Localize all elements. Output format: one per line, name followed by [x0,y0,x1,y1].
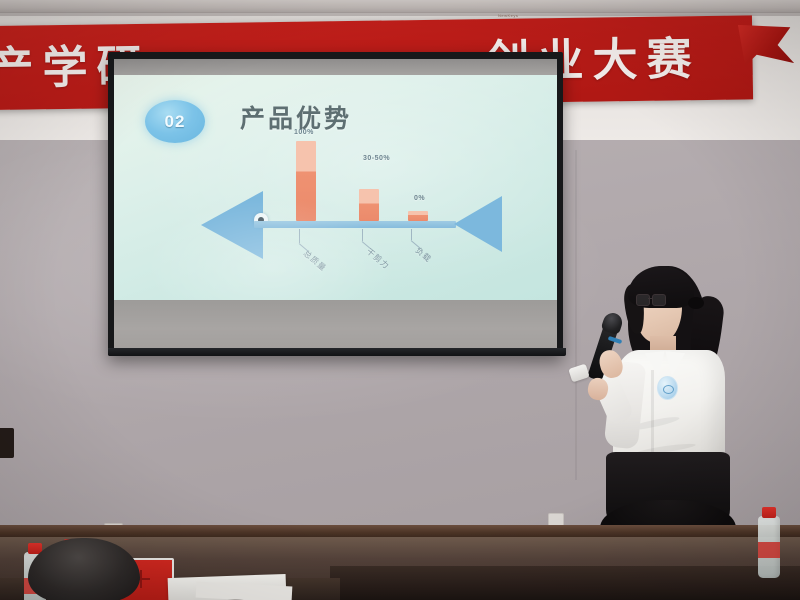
chart-category-leader [411,229,412,240]
screen-unlit-band-top [114,59,557,75]
chart-bar-value-label: 100% [294,129,314,136]
chart-bar [408,211,428,221]
chart-bar-value-label: 0% [414,195,425,202]
chart-category-label: 干剪力 [364,246,392,272]
chart-bar-value-label: 30-50% [363,155,390,162]
projected-slide: 02 产品优势 100% 总质量 [114,75,557,300]
presenter-glasses [636,294,664,305]
chart-bar [296,141,316,221]
wall-seam [575,150,577,480]
projection-screen: 02 产品优势 100% 总质量 [108,52,563,356]
door-edge [0,428,14,458]
chart-category-leader [362,229,363,241]
judges-table [330,566,800,600]
chart-category-label: 负载 [413,245,434,265]
projector-brand-label: NewKeys [498,13,518,18]
lecture-hall-scene: NewKeys 产学研 创业大赛 02 产品优势 [0,0,800,600]
chart-bar [359,189,379,221]
presenter-name-badge [657,376,678,400]
water-bottle[interactable] [758,516,780,578]
presenter-hair-tie [688,297,704,309]
chart-category-leader [299,229,300,243]
screen-bottom-bar [108,348,566,356]
screen-unlit-band-bottom [114,300,557,348]
fishbone-tail-arrow-icon [454,196,502,252]
fishbone-spine [254,221,456,228]
fishbone-bar-chart: 100% 总质量 30-50% 干剪力 [114,75,557,300]
screen-surface: 02 产品优势 100% 总质量 [114,59,557,348]
chart-category-label: 总质量 [301,248,329,274]
